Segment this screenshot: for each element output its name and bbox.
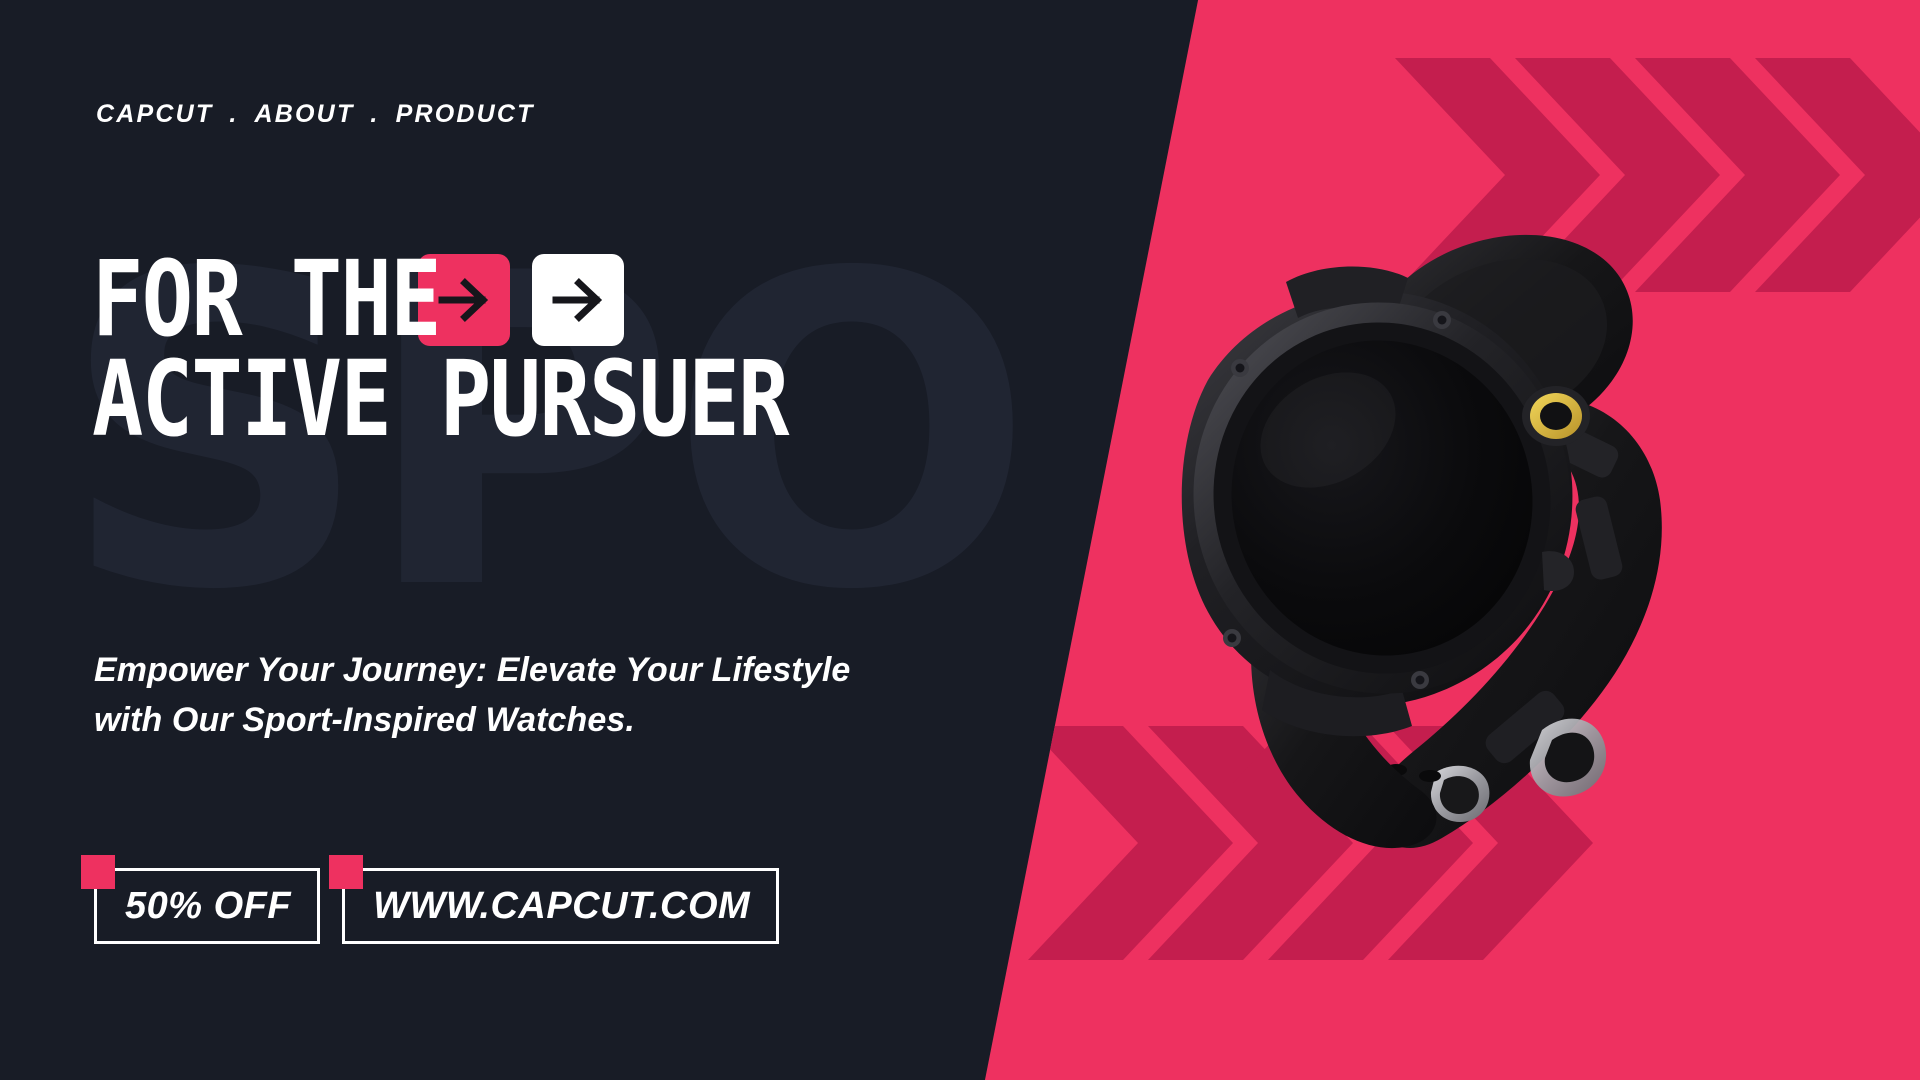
headline-line-2: ACTIVE PURSUER (92, 350, 788, 450)
cta-row: 50% OFF WWW.CAPCUT.COM (94, 868, 779, 944)
nav-separator: . (213, 100, 254, 129)
nav-item-product[interactable]: PRODUCT (396, 100, 535, 129)
arrow-button-group (418, 254, 624, 346)
badge-corner-accent (329, 855, 363, 889)
nav-item-about[interactable]: ABOUT (255, 100, 355, 129)
headline-line-2-row: ACTIVE PURSUER (92, 350, 992, 450)
arrow-right-icon (550, 272, 606, 328)
badge-corner-accent (81, 855, 115, 889)
banner-content: CAPCUT . ABOUT . PRODUCT FOR THE (0, 0, 1920, 1080)
top-navigation: CAPCUT . ABOUT . PRODUCT (96, 100, 535, 129)
website-badge-label: WWW.CAPCUT.COM (373, 885, 750, 927)
banner-canvas: SPO (0, 0, 1920, 1080)
arrow-right-white-button[interactable] (532, 254, 624, 346)
subtitle-text: Empower Your Journey: Elevate Your Lifes… (94, 645, 854, 746)
nav-separator: . (354, 100, 395, 129)
headline-line-1-row: FOR THE (92, 250, 992, 350)
arrow-right-icon (436, 272, 492, 328)
discount-badge-label: 50% OFF (125, 885, 291, 927)
headline-block: FOR THE (92, 250, 992, 450)
headline-line-1: FOR THE (92, 250, 440, 350)
website-badge[interactable]: WWW.CAPCUT.COM (342, 868, 779, 944)
discount-badge[interactable]: 50% OFF (94, 868, 320, 944)
nav-item-capcut[interactable]: CAPCUT (96, 100, 213, 129)
